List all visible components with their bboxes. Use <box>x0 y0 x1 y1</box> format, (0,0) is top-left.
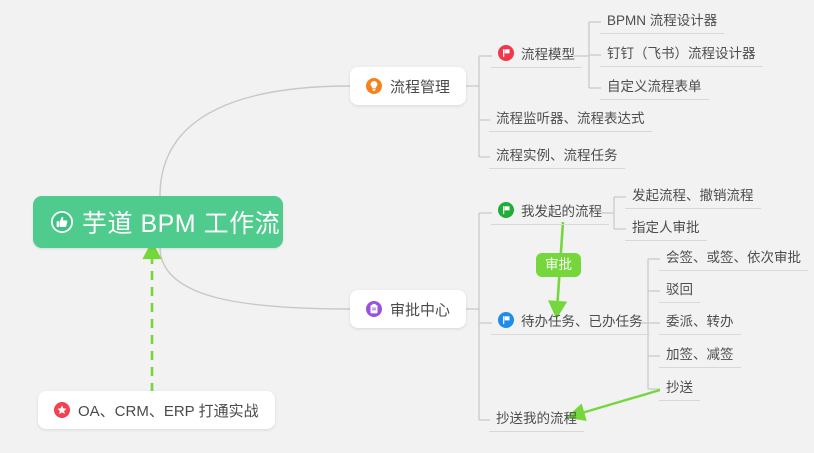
mindmap-canvas: 芋道 BPM 工作流 流程管理 流程模型 BPMN 流程设计器 钉钉（飞书 <box>0 0 814 453</box>
node-process-model[interactable]: 流程模型 <box>491 42 582 68</box>
branch-node-process-management[interactable]: 流程管理 <box>350 67 466 105</box>
root-node[interactable]: 芋道 BPM 工作流 <box>33 196 283 248</box>
node-custom-form[interactable]: 自定义流程表单 <box>600 74 709 100</box>
node-cc-my-process[interactable]: 抄送我的流程 <box>489 406 584 432</box>
clipboard-icon <box>366 301 382 317</box>
node-delegate-transfer[interactable]: 委派、转办 <box>659 309 741 335</box>
branch-label-process-management: 流程管理 <box>390 76 450 97</box>
node-label-dingtalk-designer: 钉钉（飞书）流程设计器 <box>607 42 756 62</box>
flag-icon <box>498 202 514 218</box>
node-label-delegate-transfer: 委派、转办 <box>666 310 734 330</box>
node-process-instance[interactable]: 流程实例、流程任务 <box>489 143 625 169</box>
edge-root-to-process-management <box>160 86 350 196</box>
edge-root-to-approval-center <box>160 247 350 309</box>
node-my-started-process[interactable]: 我发起的流程 <box>491 199 609 225</box>
integration-node[interactable]: OA、CRM、ERP 打通实战 <box>38 391 275 429</box>
branch-node-approval-center[interactable]: 审批中心 <box>350 290 466 328</box>
node-start-cancel-process[interactable]: 发起流程、撤销流程 <box>625 183 761 209</box>
node-todo-done-task[interactable]: 待办任务、已办任务 <box>491 309 650 335</box>
node-label-process-listener: 流程监听器、流程表达式 <box>496 107 645 127</box>
flag-icon <box>498 312 514 328</box>
node-label-countersign: 会签、或签、依次审批 <box>666 246 801 266</box>
lightbulb-icon <box>366 78 382 94</box>
node-process-listener[interactable]: 流程监听器、流程表达式 <box>489 106 652 132</box>
node-label-bpmn-designer: BPMN 流程设计器 <box>607 9 717 29</box>
node-countersign[interactable]: 会签、或签、依次审批 <box>659 245 808 271</box>
integration-node-label: OA、CRM、ERP 打通实战 <box>78 400 259 421</box>
approval-pill-label[interactable]: 审批 <box>536 253 581 277</box>
flag-icon <box>498 45 514 61</box>
node-label-cc-my-process: 抄送我的流程 <box>496 407 577 427</box>
node-label-process-instance: 流程实例、流程任务 <box>496 144 618 164</box>
node-label-todo-done-task: 待办任务、已办任务 <box>521 310 643 330</box>
node-label-designated-approver: 指定人审批 <box>632 216 700 236</box>
node-label-cc: 抄送 <box>666 376 693 396</box>
node-label-custom-form: 自定义流程表单 <box>607 75 702 95</box>
root-label: 芋道 BPM 工作流 <box>82 204 280 240</box>
node-label-start-cancel-process: 发起流程、撤销流程 <box>632 184 754 204</box>
approval-pill-text: 审批 <box>545 257 572 272</box>
node-label-my-started-process: 我发起的流程 <box>521 200 602 220</box>
node-bpmn-designer[interactable]: BPMN 流程设计器 <box>600 8 724 34</box>
node-add-remove-sign[interactable]: 加签、减签 <box>659 342 741 368</box>
node-designated-approver[interactable]: 指定人审批 <box>625 215 707 241</box>
star-icon <box>54 402 70 418</box>
node-dingtalk-designer[interactable]: 钉钉（飞书）流程设计器 <box>600 41 763 67</box>
cc-flow-arrow <box>575 390 660 415</box>
node-reject[interactable]: 驳回 <box>659 277 700 303</box>
node-cc[interactable]: 抄送 <box>659 375 700 401</box>
node-label-reject: 驳回 <box>666 278 693 298</box>
thumbs-up-icon <box>51 211 73 233</box>
branch-label-approval-center: 审批中心 <box>390 299 450 320</box>
node-label-process-model: 流程模型 <box>521 43 575 63</box>
node-label-add-remove-sign: 加签、减签 <box>666 343 734 363</box>
